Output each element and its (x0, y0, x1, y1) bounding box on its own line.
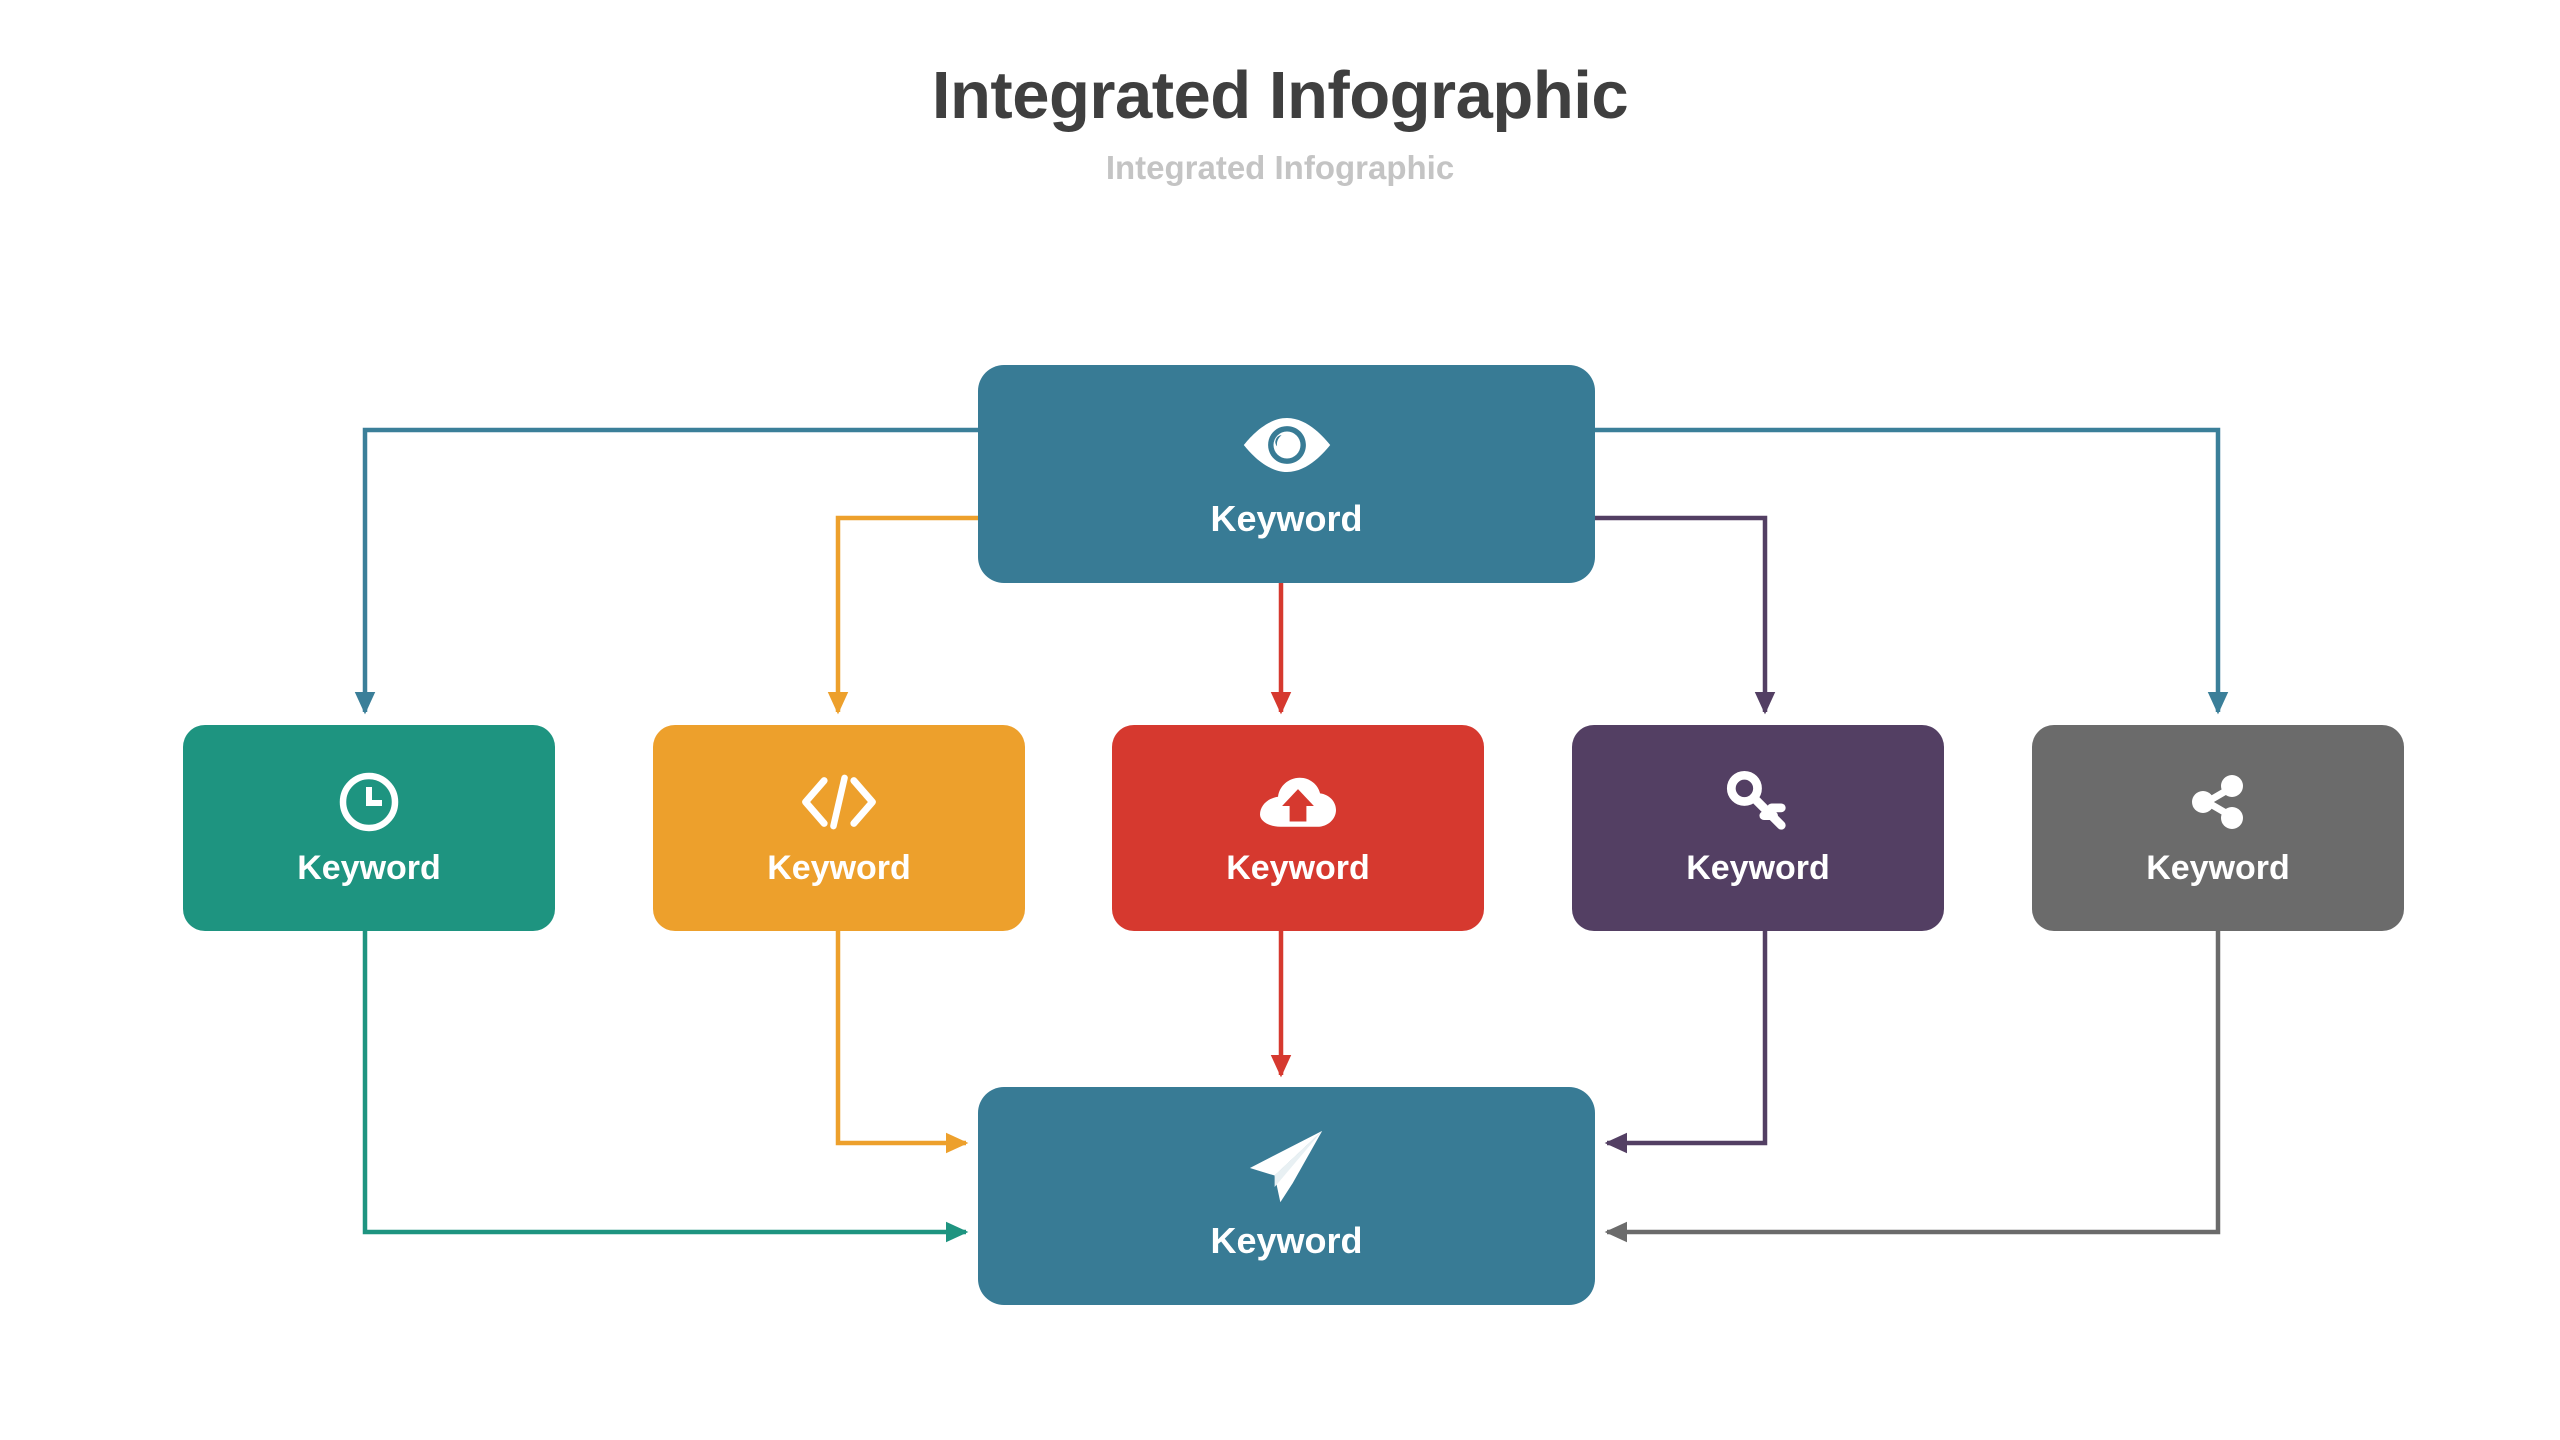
node-top-hub[interactable]: Keyword (978, 365, 1595, 583)
key-icon (1725, 769, 1791, 835)
page-title: Integrated Infographic (0, 62, 2560, 129)
connector-key-to-bottom (1607, 931, 1765, 1143)
node-cloud-upload[interactable]: Keyword (1112, 725, 1484, 931)
share-icon (2186, 769, 2250, 835)
header: Integrated Infographic Integrated Infogr… (0, 0, 2560, 187)
node-label: Keyword (1226, 849, 1370, 888)
page-subtitle: Integrated Infographic (0, 129, 2560, 187)
connector-top-to-key (1595, 518, 1765, 712)
node-share[interactable]: Keyword (2032, 725, 2404, 931)
node-code[interactable]: Keyword (653, 725, 1025, 931)
node-label: Keyword (1210, 1220, 1362, 1262)
connector-top-to-code (838, 518, 978, 712)
connector-code-to-bottom (838, 931, 966, 1143)
node-label: Keyword (767, 849, 911, 888)
node-label: Keyword (1210, 498, 1362, 540)
node-clock[interactable]: Keyword (183, 725, 555, 931)
paper-plane-icon (1246, 1130, 1328, 1204)
node-label: Keyword (2146, 849, 2290, 888)
connector-top-to-share (1595, 430, 2218, 712)
eye-icon (1242, 408, 1332, 482)
connector-top-to-clock (365, 430, 978, 712)
connector-clock-to-bottom (365, 931, 966, 1232)
node-label: Keyword (1686, 849, 1830, 888)
node-bottom-hub[interactable]: Keyword (978, 1087, 1595, 1305)
clock-icon (337, 769, 401, 835)
code-icon (800, 769, 878, 835)
node-label: Keyword (297, 849, 441, 888)
cloud-upload-icon (1260, 769, 1336, 835)
infographic-canvas: Integrated Infographic Integrated Infogr… (0, 0, 2560, 1440)
node-key[interactable]: Keyword (1572, 725, 1944, 931)
connector-share-to-bottom (1607, 931, 2218, 1232)
